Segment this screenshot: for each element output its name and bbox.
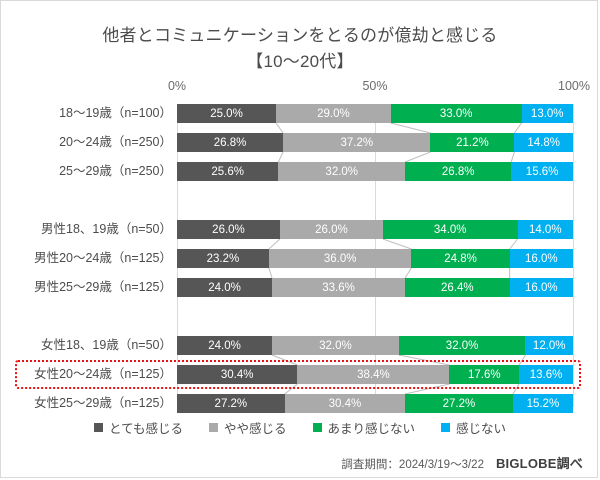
axis-tick-100: 100% <box>558 79 590 93</box>
bar-row: 24.0%33.6%26.4%16.0% <box>177 278 574 297</box>
bar-segment: 34.0% <box>383 220 518 239</box>
bar-segment: 14.8% <box>514 133 573 152</box>
bar-segment: 32.0% <box>399 336 526 355</box>
segment-connector-line <box>405 152 430 162</box>
bar-segment: 30.4% <box>285 394 405 413</box>
bar-row: 27.2%30.4%27.2%15.2% <box>177 394 574 413</box>
axis-tick-0: 0% <box>168 79 186 93</box>
segment-connector-line <box>511 152 514 162</box>
legend-item[interactable]: あまり感じない <box>313 418 416 437</box>
bar-segment: 14.0% <box>518 220 573 239</box>
legend-label: 感じない <box>456 418 506 437</box>
bar-segment: 12.0% <box>525 336 573 355</box>
legend-label: あまり感じない <box>328 418 416 437</box>
highlight-box <box>15 360 581 389</box>
category-label: 20〜24歳（n=250） <box>12 133 172 152</box>
bar-segment: 21.2% <box>430 133 514 152</box>
bar-segment: 33.0% <box>391 104 522 123</box>
bar-segment: 25.0% <box>177 104 276 123</box>
segment-connector-line <box>278 152 283 162</box>
category-label: 18〜19歳（n=100） <box>12 104 172 123</box>
legend-label: やや感じる <box>224 418 287 437</box>
bar-segment: 27.2% <box>177 394 285 413</box>
segment-connector-line <box>276 123 283 133</box>
chart-title: 他者とコミュニケーションをとるのが億劫と感じる 【10〜20代】 <box>1 23 599 75</box>
legend-label: とても感じる <box>109 418 183 437</box>
bar-segment: 26.8% <box>177 133 283 152</box>
segment-connector-line <box>269 239 280 249</box>
bar-segment: 33.6% <box>272 278 405 297</box>
legend-swatch-icon <box>313 423 322 432</box>
bar-segment: 15.2% <box>513 394 573 413</box>
chart-legend: とても感じるやや感じるあまり感じない感じない <box>1 418 599 437</box>
bar-row: 26.8%37.2%21.2%14.8% <box>177 133 574 152</box>
category-label: 男性18、19歳（n=50） <box>12 220 172 239</box>
chart-title-line2: 【10〜20代】 <box>1 49 599 75</box>
bar-row: 25.6%32.0%26.8%15.6% <box>177 162 574 181</box>
legend-swatch-icon <box>94 423 103 432</box>
bar-segment: 26.8% <box>405 162 511 181</box>
bar-segment: 23.2% <box>177 249 269 268</box>
segment-connector-line <box>510 239 518 249</box>
bar-segment: 16.0% <box>510 278 573 297</box>
segment-connector-line <box>383 239 412 249</box>
category-label: 男性20〜24歳（n=125） <box>12 249 172 268</box>
segment-connector-line <box>514 123 521 133</box>
bar-segment: 29.0% <box>276 104 391 123</box>
bar-segment: 24.8% <box>411 249 509 268</box>
bar-row: 26.0%26.0%34.0%14.0% <box>177 220 574 239</box>
bar-segment: 13.0% <box>522 104 573 123</box>
chart-container: 他者とコミュニケーションをとるのが億劫と感じる 【10〜20代】 0% 50% … <box>0 0 598 478</box>
bar-row: 25.0%29.0%33.0%13.0% <box>177 104 574 123</box>
legend-item[interactable]: とても感じる <box>94 418 183 437</box>
bar-segment: 37.2% <box>283 133 430 152</box>
bar-segment: 15.6% <box>511 162 573 181</box>
bar-segment: 26.0% <box>177 220 280 239</box>
legend-swatch-icon <box>441 423 450 432</box>
segment-connector-line <box>391 123 431 133</box>
category-label: 女性25〜29歳（n=125） <box>12 394 172 413</box>
legend-item[interactable]: 感じない <box>441 418 506 437</box>
chart-footer: 調査期間：2024/3/19〜3/22 BIGLOBE調べ <box>341 453 583 472</box>
bar-segment: 26.0% <box>280 220 383 239</box>
bar-segment: 26.4% <box>405 278 510 297</box>
segment-connector-line <box>269 268 272 278</box>
category-label: 女性18、19歳（n=50） <box>12 336 172 355</box>
category-label: 25〜29歳（n=250） <box>12 162 172 181</box>
bar-segment: 24.0% <box>177 336 272 355</box>
bar-segment: 32.0% <box>272 336 399 355</box>
bar-segment: 32.0% <box>278 162 405 181</box>
brand-label: BIGLOBE調べ <box>496 453 583 472</box>
category-label: 男性25〜29歳（n=125） <box>12 278 172 297</box>
bar-segment: 27.2% <box>405 394 513 413</box>
bar-segment: 24.0% <box>177 278 272 297</box>
segment-connector-line <box>405 268 411 278</box>
bar-row: 23.2%36.0%24.8%16.0% <box>177 249 574 268</box>
legend-item[interactable]: やや感じる <box>209 418 287 437</box>
bar-row: 24.0%32.0%32.0%12.0% <box>177 336 574 355</box>
survey-period: 調査期間：2024/3/19〜3/22 <box>341 456 484 472</box>
bar-segment: 16.0% <box>510 249 573 268</box>
chart-title-line1: 他者とコミュニケーションをとるのが億劫と感じる <box>102 26 497 45</box>
bar-segment: 36.0% <box>269 249 412 268</box>
axis-tick-50: 50% <box>362 79 387 93</box>
bar-segment: 25.6% <box>177 162 278 181</box>
legend-swatch-icon <box>209 423 218 432</box>
